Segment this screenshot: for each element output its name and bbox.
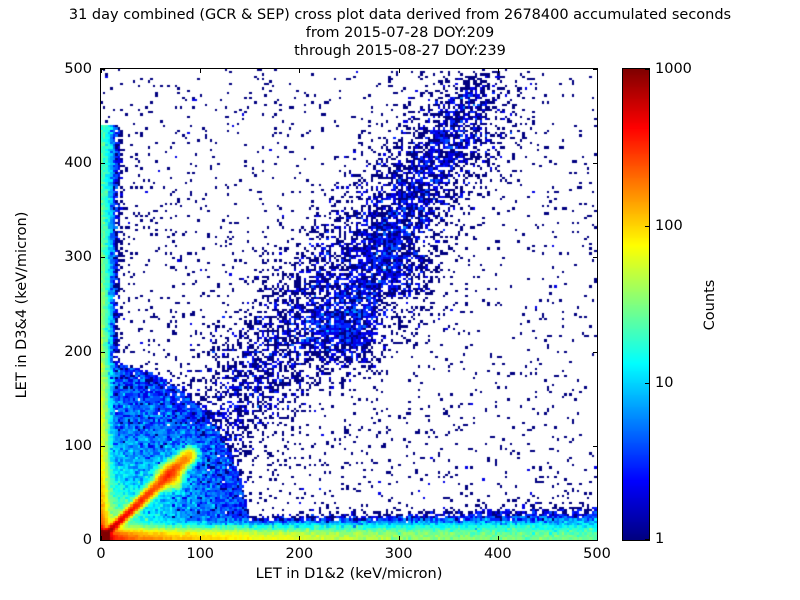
y-tick-right (593, 163, 597, 164)
title-line-1: 31 day combined (GCR & SEP) cross plot d… (0, 6, 800, 24)
y-tick (101, 257, 105, 258)
x-tick-top (200, 69, 201, 73)
x-tick (597, 536, 598, 540)
y-tick (101, 540, 105, 541)
y-tick-right (593, 257, 597, 258)
colorbar-tick-label: 100 (655, 218, 683, 234)
plot-axes (100, 68, 598, 541)
y-tick (101, 163, 105, 164)
x-axis-label: LET in D1&2 (keV/micron) (0, 566, 698, 582)
colorbar-label: Counts (702, 280, 718, 331)
y-tick-right (593, 446, 597, 447)
y-tick (101, 69, 105, 70)
title-line-3: through 2015-08-27 DOY:239 (0, 42, 800, 60)
colorbar-label-container: Counts (690, 0, 730, 600)
y-tick-right (593, 352, 597, 353)
y-tick-right (593, 69, 597, 70)
x-tick (498, 536, 499, 540)
figure-canvas: 31 day combined (GCR & SEP) cross plot d… (0, 0, 800, 600)
scatter-heatmap (101, 69, 597, 540)
x-tick-top (299, 69, 300, 73)
y-axis-label: LET in D3&4 (keV/micron) (14, 212, 30, 399)
x-tick-label: 200 (286, 546, 314, 562)
x-tick (399, 536, 400, 540)
y-axis-label-container: LET in D3&4 (keV/micron) (0, 0, 52, 600)
colorbar-gradient (623, 69, 649, 540)
y-tick-right (593, 540, 597, 541)
x-tick-top (399, 69, 400, 73)
colorbar-tick-label: 1 (655, 531, 664, 547)
y-tick (101, 446, 105, 447)
x-tick (200, 536, 201, 540)
x-tick-label: 300 (385, 546, 413, 562)
y-tick (101, 352, 105, 353)
title-line-2: from 2015-07-28 DOY:209 (0, 24, 800, 42)
x-tick-label: 500 (583, 546, 611, 562)
chart-title: 31 day combined (GCR & SEP) cross plot d… (0, 6, 800, 60)
x-tick (299, 536, 300, 540)
colorbar-tick (645, 226, 649, 227)
colorbar-tick (645, 69, 649, 70)
colorbar-tick-label: 1000 (655, 61, 692, 77)
x-tick-label: 0 (96, 546, 105, 562)
x-tick-label: 400 (484, 546, 512, 562)
colorbar-tick-label: 10 (655, 375, 673, 391)
colorbar (622, 68, 650, 541)
colorbar-tick (645, 383, 649, 384)
colorbar-tick (645, 539, 649, 540)
x-tick-top (597, 69, 598, 73)
x-tick-label: 100 (186, 546, 214, 562)
x-tick-top (498, 69, 499, 73)
